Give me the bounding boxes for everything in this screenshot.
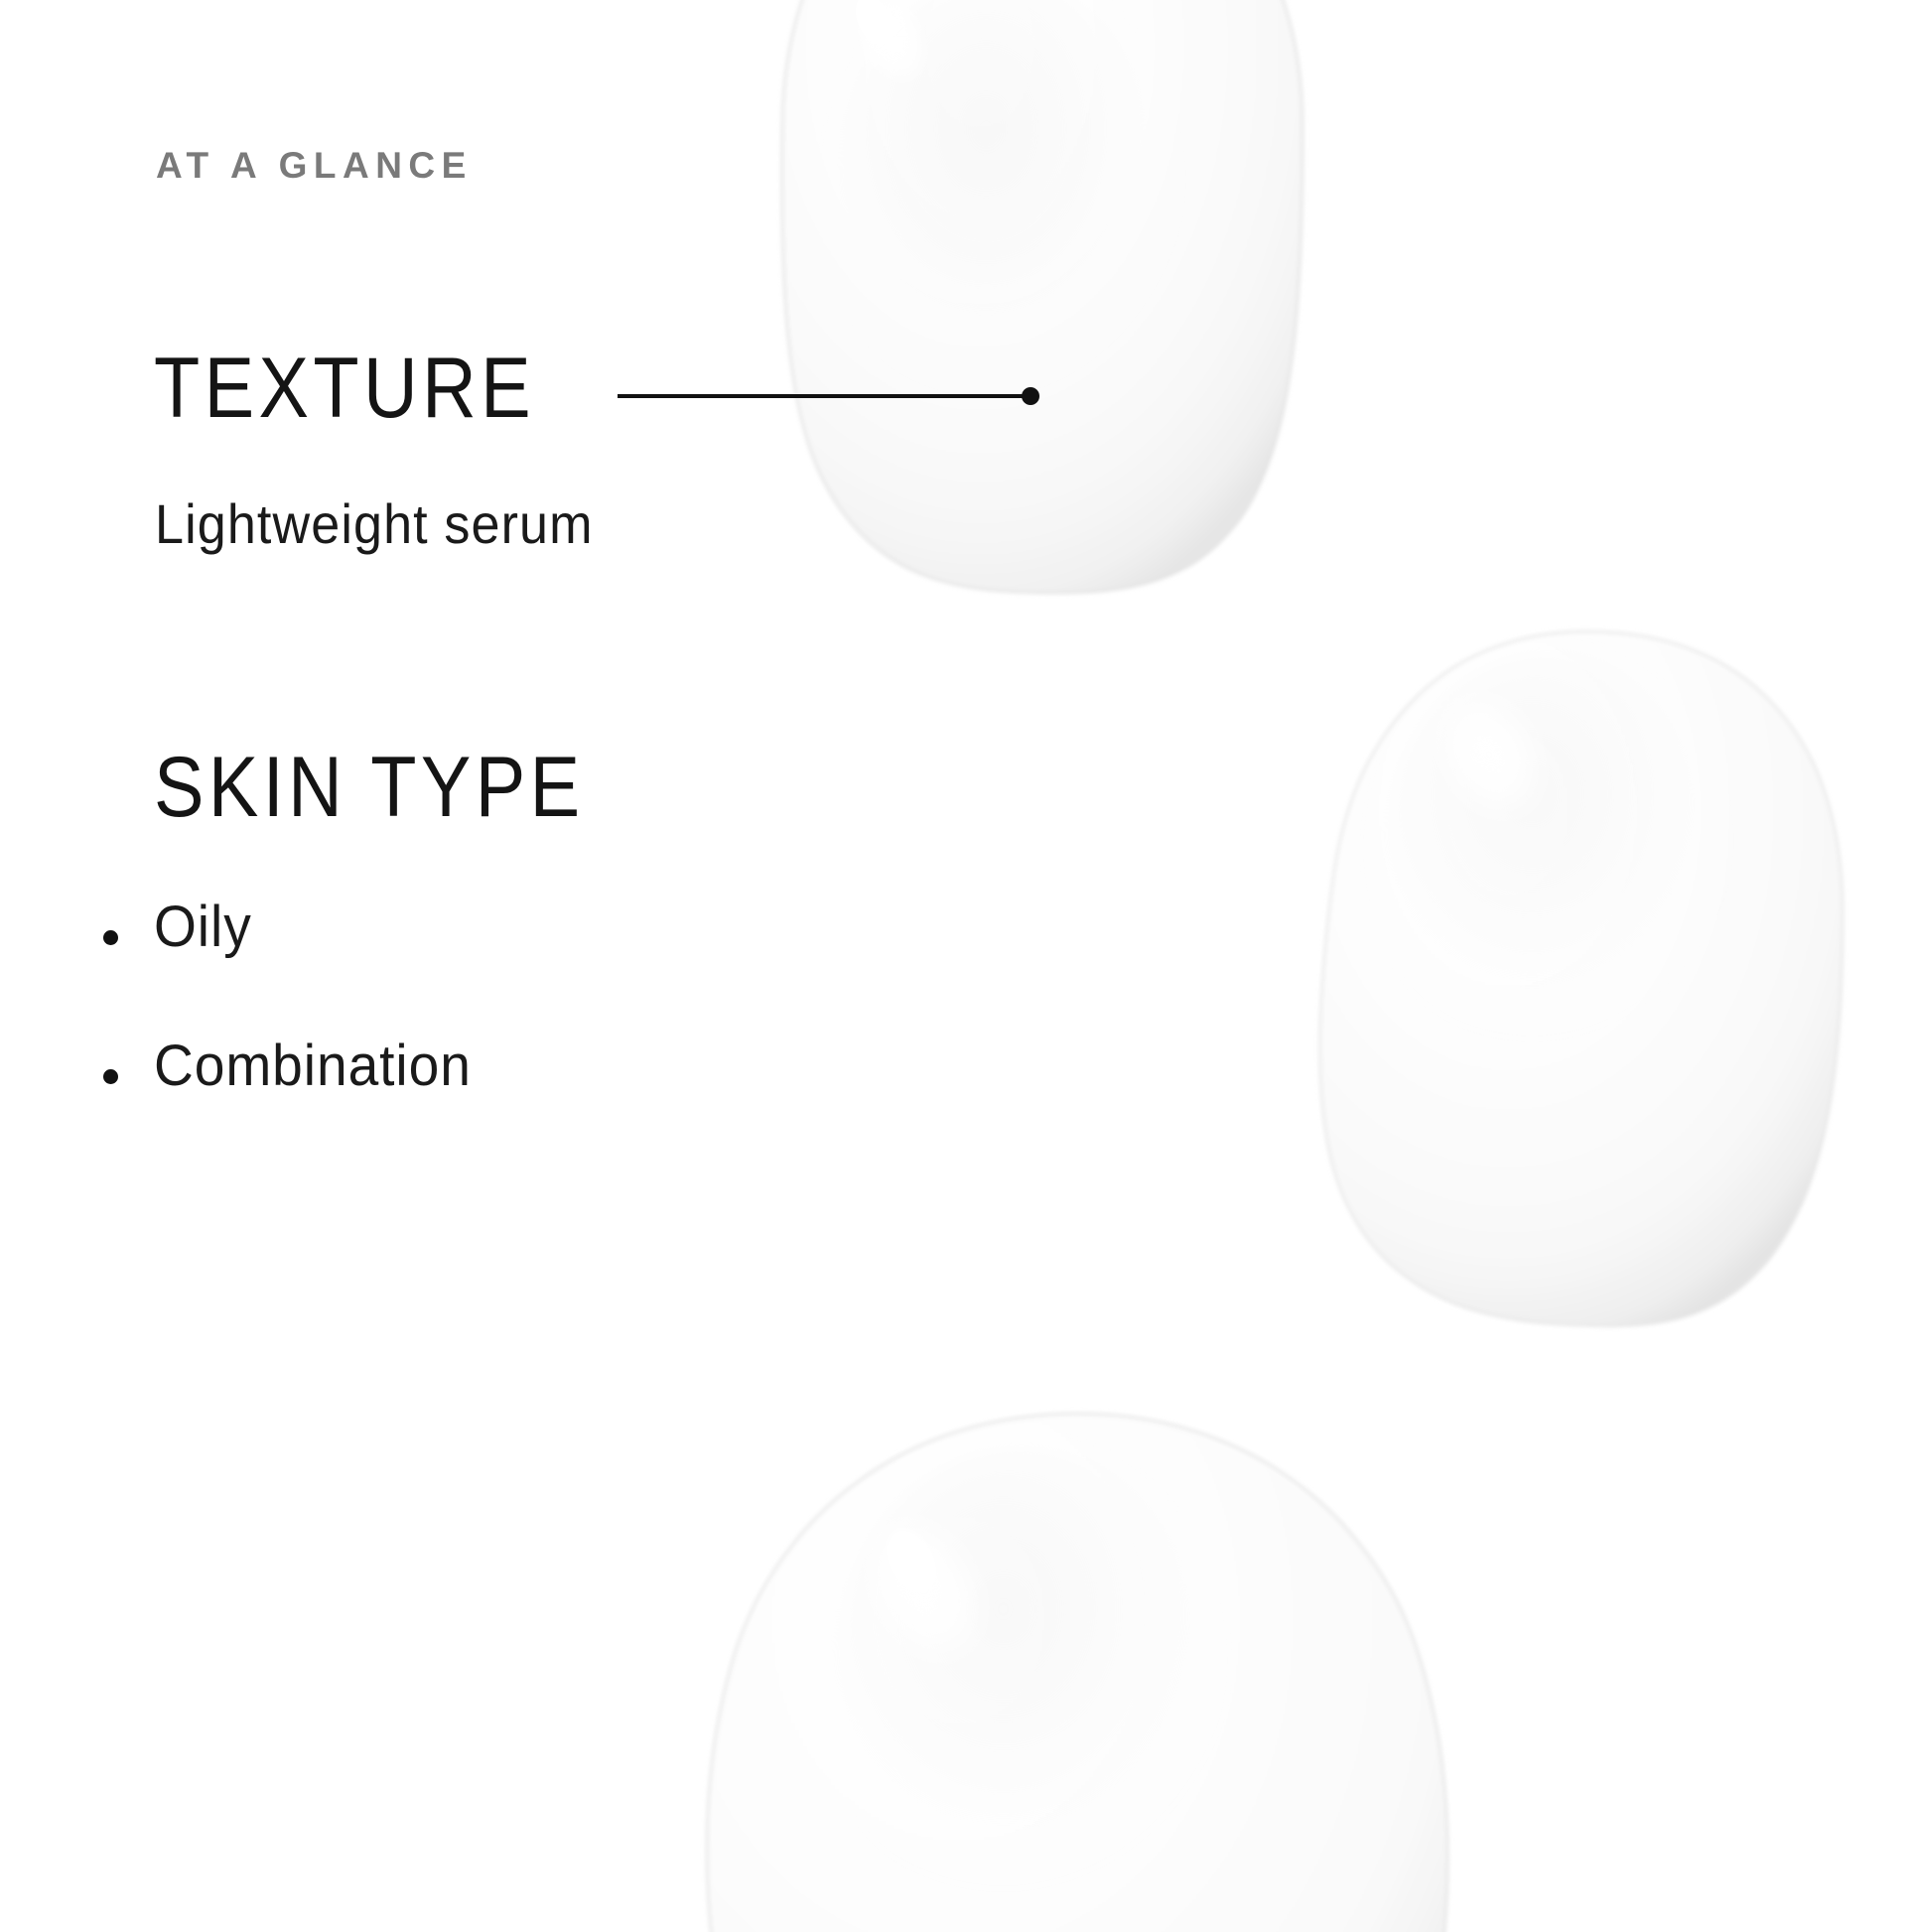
section-heading-skin-type: SKIN TYPE (154, 745, 585, 830)
product-at-a-glance-graphic: AT A GLANCE TEXTURE Lightweight serum SK… (0, 0, 1932, 1932)
list-item: Combination (0, 1033, 488, 1172)
skin-type-label: Combination (154, 1037, 472, 1095)
section-heading-texture: TEXTURE (154, 345, 535, 431)
eyebrow-at-a-glance: AT A GLANCE (156, 147, 473, 184)
text-content: AT A GLANCE TEXTURE Lightweight serum SK… (0, 0, 1932, 1932)
bullet-dot-icon (103, 1069, 118, 1084)
skin-type-list: Oily Combination (0, 894, 488, 1172)
bullet-dot-icon (103, 930, 118, 945)
list-item: Oily (0, 894, 488, 1033)
texture-value: Lightweight serum (155, 496, 594, 552)
skin-type-label: Oily (154, 898, 252, 956)
